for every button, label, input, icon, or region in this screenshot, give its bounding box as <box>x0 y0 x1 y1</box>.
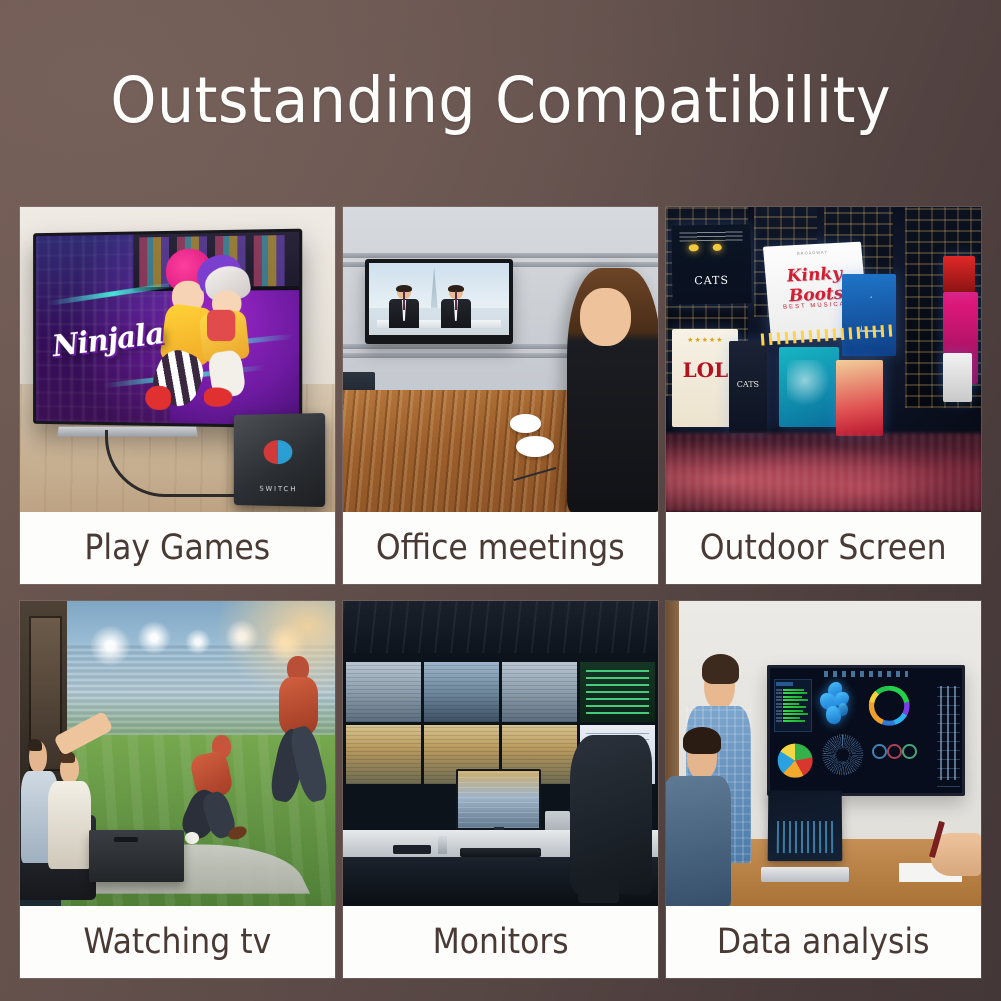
video-call-participant <box>387 286 421 328</box>
control-room-scene <box>343 601 658 906</box>
billboard-white <box>943 353 971 402</box>
coffee-cup <box>510 414 542 432</box>
meeting-room-scene <box>666 601 981 906</box>
panel-tag <box>776 682 793 687</box>
caption-text: Office meetings <box>376 531 625 566</box>
crowd <box>666 433 981 512</box>
desk-mat <box>393 845 431 854</box>
radial-burst-chart <box>820 736 866 789</box>
colleague-seated <box>666 735 735 906</box>
switch-logo-icon <box>264 441 293 465</box>
caption-text: Data analysis <box>717 925 930 960</box>
wall-mounted-tv <box>365 259 513 344</box>
billboard-cats: CATS <box>672 225 752 306</box>
surveillance-monitor <box>346 662 421 722</box>
conference-room-scene <box>343 207 658 512</box>
living-room-scene: Ninjala SWITCH <box>20 207 335 512</box>
tv-screen <box>369 263 509 335</box>
dashboard-title-bar <box>824 671 909 677</box>
office-chair <box>570 735 652 894</box>
nintendo-switch-dock: SWITCH <box>234 413 325 507</box>
laptop-base <box>761 867 849 882</box>
caption-monitors: Monitors <box>343 906 658 978</box>
viewer-two <box>48 754 92 870</box>
page-title-area: Outstanding Compatibility <box>0 0 1001 200</box>
switch-label: SWITCH <box>234 485 325 494</box>
billboard-text: CATS <box>672 273 751 287</box>
feature-grid: Ninjala SWITCH Play Games <box>20 207 981 978</box>
tile-outdoor-screen[interactable]: CATS BROADWAY Kinky Boots BEST MUSICAL ★… <box>666 207 981 584</box>
caption-data-analysis: Data analysis <box>666 906 981 978</box>
desk-phone <box>438 836 447 854</box>
photo-data-analysis <box>666 601 981 906</box>
tv-screen: Ninjala <box>36 232 299 426</box>
wall-display <box>767 665 965 796</box>
photo-outdoor-screen: CATS BROADWAY Kinky Boots BEST MUSICAL ★… <box>666 207 981 512</box>
page-title: Outstanding Compatibility <box>110 69 891 132</box>
wall-trim <box>343 253 658 258</box>
pie-chart <box>774 734 816 787</box>
desk-monitor <box>456 769 541 830</box>
surveillance-monitor <box>502 662 577 722</box>
caption-outdoor-screen: Outdoor Screen <box>666 512 981 584</box>
promo-page: Outstanding Compatibility <box>0 0 1001 1001</box>
cat-eye-icon <box>713 244 723 251</box>
region-map-chart <box>816 681 858 731</box>
dashboard <box>770 668 962 793</box>
surveillance-monitor <box>424 662 499 722</box>
laptop <box>761 790 849 882</box>
keyboard <box>460 848 542 857</box>
photo-watching-tv <box>20 601 335 906</box>
tile-play-games[interactable]: Ninjala SWITCH Play Games <box>20 207 335 584</box>
laptop-screen <box>767 791 842 862</box>
tile-office-meetings[interactable]: Office meetings <box>343 207 658 584</box>
coffee-cup <box>516 436 554 457</box>
photo-office-meetings <box>343 207 658 512</box>
video-call-participant <box>439 286 473 328</box>
donut-chart <box>866 682 912 730</box>
ceiling <box>343 601 658 653</box>
billboard-blue <box>842 274 896 356</box>
caption-text: Monitors <box>432 925 568 960</box>
billboard-cats-small: CATS <box>729 341 767 433</box>
caption-text: Play Games <box>85 531 271 566</box>
television: Ninjala <box>34 229 303 429</box>
billboard-red <box>943 256 975 293</box>
billboard-eyebrow: BROADWAY <box>763 247 861 257</box>
attendee-man <box>567 268 658 512</box>
caption-text: Watching tv <box>84 925 272 960</box>
billboard-text: CATS <box>729 380 767 389</box>
caption-text: Outdoor Screen <box>700 531 947 566</box>
tile-watching-tv[interactable]: Watching tv <box>20 601 335 978</box>
photo-play-games: Ninjala SWITCH <box>20 207 335 512</box>
times-square-scene: CATS BROADWAY Kinky Boots BEST MUSICAL ★… <box>666 207 981 512</box>
surveillance-monitor <box>580 662 655 722</box>
caption-play-games: Play Games <box>20 512 335 584</box>
football-player-running <box>272 656 329 809</box>
cat-eye-icon <box>689 245 699 252</box>
photo-monitors <box>343 601 658 906</box>
coffee-table <box>89 830 184 882</box>
caption-office-meetings: Office meetings <box>343 512 658 584</box>
caption-watching-tv: Watching tv <box>20 906 335 978</box>
gauge-panel <box>870 736 920 789</box>
billboard-pink <box>836 360 883 436</box>
game-character-white <box>191 264 264 406</box>
sparkline-column <box>937 679 960 787</box>
billboard-teal <box>779 347 839 426</box>
tile-data-analysis[interactable]: Data analysis <box>666 601 981 978</box>
surveillance-monitor <box>346 725 421 785</box>
tile-monitors[interactable]: Monitors <box>343 601 658 978</box>
living-room-scene <box>20 601 335 906</box>
bar-list-panel <box>774 679 812 732</box>
